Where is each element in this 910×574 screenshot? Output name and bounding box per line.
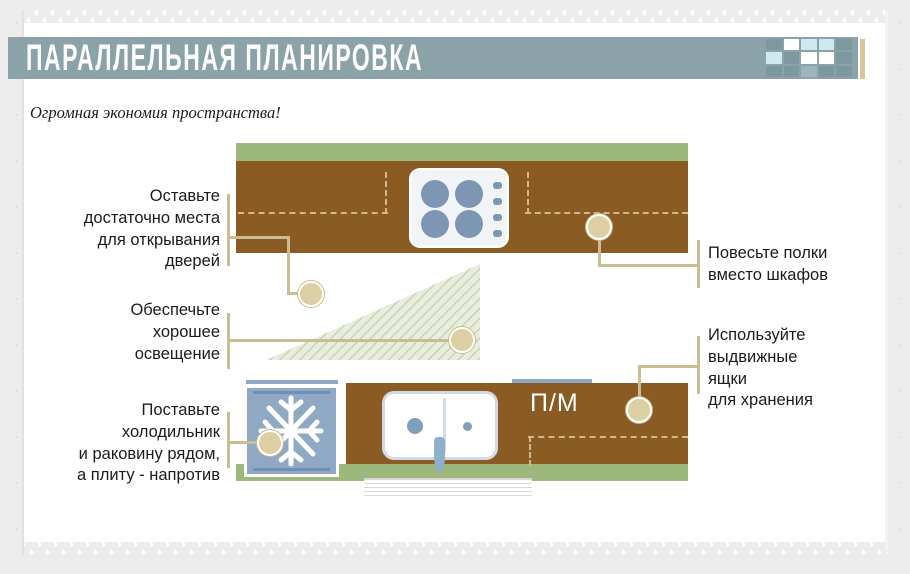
cooktop	[411, 170, 507, 246]
callout-lighting-dot	[449, 327, 475, 353]
light-coverage-triangle	[258, 262, 488, 367]
cooktop-knob-2	[493, 198, 502, 205]
burner-bottom-left	[421, 210, 449, 238]
callout-drawers-dot	[626, 397, 652, 423]
dishwasher-dash-h	[528, 436, 688, 438]
snowflake-icon	[247, 388, 336, 474]
callout-label-fridge-sink: Поставьте холодильник и раковину рядом, …	[20, 400, 220, 487]
callout-doors-arm-2	[287, 236, 290, 294]
cooktop-knob-3	[493, 214, 502, 221]
callout-shelves-arm-1	[598, 264, 699, 267]
kitchen-diagram: П/М	[0, 0, 910, 574]
cabinet-dash-top-left-v	[385, 172, 387, 214]
burner-top-left	[421, 180, 449, 208]
cabinet-dash-top-right-v	[527, 172, 529, 214]
burner-bottom-right	[455, 210, 483, 238]
callout-lighting-arm	[227, 339, 452, 342]
callout-fridge-dot	[257, 430, 283, 456]
callout-shelves-dot	[586, 214, 612, 240]
shelf-above-dishwasher	[512, 379, 592, 383]
shelf-above-fridge	[246, 380, 338, 384]
cooktop-knob-1	[493, 182, 502, 189]
dishwasher-dash-v	[529, 436, 531, 466]
sink-drain-left	[407, 418, 423, 434]
callout-doors-dot	[298, 281, 324, 307]
callout-doors-arm-1	[227, 236, 289, 239]
callout-label-lighting: Обеспечьте хорошее освещение	[30, 300, 220, 365]
callout-label-drawers: Используйте выдвижные ящки для хранения	[708, 325, 893, 412]
callout-label-shelves: Повесьте полки вместо шкафов	[708, 243, 893, 287]
cabinet-dash-top-right	[525, 212, 688, 214]
burner-top-right	[455, 180, 483, 208]
faucet	[434, 437, 445, 473]
infographic-root: ПАРАЛЛЕЛЬНАЯ ПЛАНИРОВКА Огромная экономи…	[0, 0, 910, 574]
cabinet-dash-top-left	[238, 212, 388, 214]
callout-label-doors: Оставьте достаточно места для открывания…	[30, 186, 220, 273]
top-counter-wall-strip	[236, 143, 688, 161]
callout-doors-stem	[227, 194, 230, 266]
sink-drain-right	[463, 422, 472, 431]
callout-drawers-arm-1	[638, 365, 699, 368]
callout-fridge-stem	[227, 412, 230, 468]
refrigerator	[244, 385, 339, 477]
cooktop-knob-4	[493, 230, 502, 237]
floor-lines	[364, 478, 532, 498]
dishwasher-label: П/М	[530, 389, 579, 418]
